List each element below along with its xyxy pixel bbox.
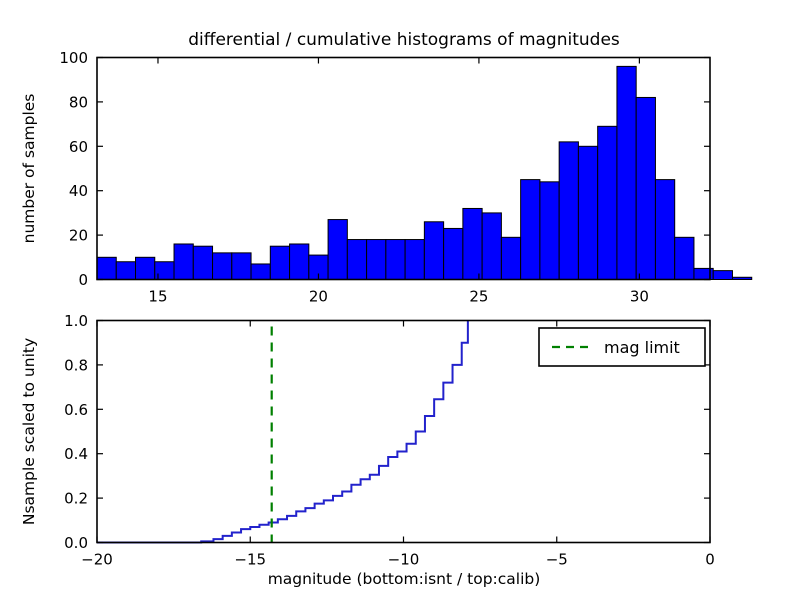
top-x-tick-label: 25	[469, 288, 488, 306]
histogram-bar	[290, 244, 309, 280]
histogram-bar	[386, 240, 405, 280]
histogram-bar	[251, 264, 270, 280]
histogram-bar	[367, 240, 386, 280]
histogram-bar	[501, 237, 520, 279]
histogram-bar	[270, 246, 289, 279]
histogram-bar	[559, 142, 578, 280]
histogram-bar	[713, 271, 732, 280]
histogram-bar	[732, 277, 751, 279]
histogram-bar	[347, 240, 366, 280]
histogram-bar	[617, 66, 636, 279]
histogram-bar	[424, 222, 443, 280]
x-axis-label: magnitude (bottom:isnt / top:calib)	[268, 570, 541, 588]
bottom-y-tick-label: 0.4	[64, 445, 88, 463]
bottom-y-tick-label: 0.0	[64, 534, 88, 552]
bottom-y-tick-label: 0.2	[64, 490, 88, 508]
histogram-bar	[598, 126, 617, 279]
histogram-bar	[463, 208, 482, 279]
histogram-bar	[328, 220, 347, 280]
top-x-tick-label: 20	[309, 288, 328, 306]
bottom-x-tick-label: −10	[388, 551, 420, 569]
histogram-bar	[213, 253, 232, 280]
bottom-x-tick-label: −20	[81, 551, 113, 569]
top-x-tick-label: 30	[630, 288, 649, 306]
matplotlib-figure: differential / cumulative histograms of …	[0, 0, 800, 600]
top-y-tick-label: 80	[69, 93, 88, 111]
histogram-bar	[675, 237, 694, 279]
top-y-axis-label: number of samples	[20, 94, 38, 244]
bottom-y-axis-label: Nsample scaled to unity	[20, 338, 38, 525]
bottom-panel: −20−15−10−50 0.00.20.40.60.81.0 Nsample …	[20, 312, 715, 588]
bottom-y-tick-label: 0.6	[64, 401, 88, 419]
top-y-tick-label: 100	[59, 49, 88, 67]
top-y-tick-label: 40	[69, 182, 88, 200]
histogram-bar	[578, 146, 597, 279]
top-panel: differential / cumulative histograms of …	[20, 30, 752, 306]
histogram-bars	[97, 66, 752, 279]
histogram-bar	[540, 182, 559, 280]
histogram-bar	[521, 180, 540, 280]
histogram-bar	[482, 213, 501, 280]
legend[interactable]: mag limit	[539, 328, 705, 366]
histogram-bar	[636, 97, 655, 279]
figure-title: differential / cumulative histograms of …	[188, 30, 620, 50]
histogram-bar	[97, 257, 116, 279]
histogram-bar	[136, 257, 155, 279]
bottom-x-tick-label: 0	[705, 551, 715, 569]
figure-canvas: differential / cumulative histograms of …	[0, 0, 800, 600]
histogram-bar	[405, 240, 424, 280]
histogram-bar	[655, 180, 674, 280]
histogram-bar	[174, 244, 193, 280]
bottom-y-tick-label: 0.8	[64, 356, 88, 374]
top-y-tick-label: 0	[78, 271, 88, 289]
histogram-bar	[232, 253, 251, 280]
histogram-bar	[444, 228, 463, 279]
legend-mag-limit-label: mag limit	[604, 338, 680, 357]
bottom-x-tick-label: −15	[234, 551, 266, 569]
bottom-x-tick-label: −5	[546, 551, 568, 569]
cumulative-curve	[97, 321, 468, 543]
top-x-tick-label: 15	[148, 288, 167, 306]
bottom-y-tick-label: 1.0	[64, 312, 88, 330]
histogram-bar	[116, 262, 135, 280]
top-y-tick-label: 20	[69, 227, 88, 245]
histogram-bar	[193, 246, 212, 279]
top-y-tick-label: 60	[69, 138, 88, 156]
